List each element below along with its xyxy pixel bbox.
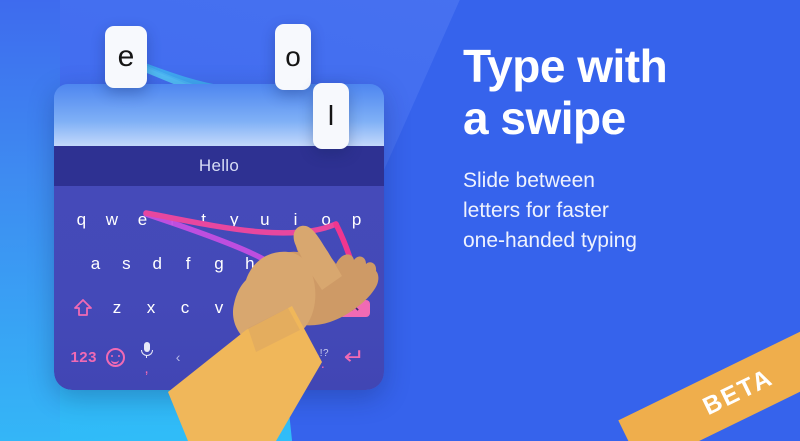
comma-label[interactable]: , xyxy=(145,365,149,373)
backspace-icon[interactable] xyxy=(338,300,372,317)
background-left-edge-gradient xyxy=(0,0,60,441)
shift-arrow-icon[interactable] xyxy=(66,298,100,318)
key-v[interactable]: v xyxy=(202,298,236,318)
suggestion-word[interactable]: Hello xyxy=(199,156,239,176)
floating-key-e-label: e xyxy=(118,40,135,74)
key-n[interactable]: n xyxy=(270,298,304,318)
key-x[interactable]: x xyxy=(134,298,168,318)
floating-key-o: o xyxy=(275,24,311,90)
numbers-key-label[interactable]: 123 xyxy=(70,349,97,366)
key-o[interactable]: o xyxy=(311,210,342,230)
suggestion-bar[interactable]: Hello xyxy=(54,146,384,186)
microphone-key[interactable]: , xyxy=(131,342,162,373)
keyboard-row-2: a s d f g h j k l xyxy=(54,254,384,274)
key-g[interactable]: g xyxy=(204,254,235,274)
key-b[interactable]: b xyxy=(236,298,270,318)
key-j[interactable]: j xyxy=(265,254,296,274)
key-q[interactable]: q xyxy=(66,210,97,230)
headline-line-2: a swipe xyxy=(463,92,783,144)
promo-copy: Type with a swipe Slide between letters … xyxy=(463,40,783,256)
keyboard-row-1: q w e r t y u i o p xyxy=(54,210,384,230)
key-u[interactable]: u xyxy=(250,210,281,230)
floating-key-l: l xyxy=(313,83,349,149)
key-h[interactable]: h xyxy=(234,254,265,274)
emoji-smiley-icon[interactable] xyxy=(99,348,130,367)
key-w[interactable]: w xyxy=(97,210,128,230)
subcopy-line-3: one-handed typing xyxy=(463,226,783,256)
subcopy-line-1: Slide between xyxy=(463,166,783,196)
key-l[interactable]: l xyxy=(327,254,358,274)
key-f[interactable]: f xyxy=(173,254,204,274)
key-y[interactable]: y xyxy=(219,210,250,230)
period-label[interactable]: . xyxy=(321,360,325,366)
key-d[interactable]: d xyxy=(142,254,173,274)
key-k[interactable]: k xyxy=(296,254,327,274)
microphone-icon[interactable] xyxy=(139,342,155,364)
key-s[interactable]: s xyxy=(111,254,142,274)
floating-key-e: e xyxy=(105,26,147,88)
keyboard[interactable]: q w e r t y u i o p a s d f g h j k l xyxy=(54,186,384,390)
page-title: Type with a swipe xyxy=(463,40,783,144)
keyboard-row-bottom: 123 , ‹ › .!? xyxy=(54,340,384,374)
promo-subtitle: Slide between letters for faster one-han… xyxy=(463,166,783,256)
cursor-left-icon[interactable]: ‹ xyxy=(162,349,193,365)
key-i[interactable]: i xyxy=(280,210,311,230)
key-r[interactable]: r xyxy=(158,210,189,230)
key-e[interactable]: e xyxy=(127,210,158,230)
headline-line-1: Type with xyxy=(463,40,783,92)
floating-key-o-label: o xyxy=(285,41,301,73)
subcopy-line-2: letters for faster xyxy=(463,196,783,226)
enter-return-icon[interactable]: ↵ xyxy=(339,346,370,368)
keyboard-row-3: z x c v b n m xyxy=(54,298,384,318)
promo-banner: Hello q w e r t y u i o p a s d f g h xyxy=(0,0,800,441)
key-z[interactable]: z xyxy=(100,298,134,318)
key-c[interactable]: c xyxy=(168,298,202,318)
key-p[interactable]: p xyxy=(341,210,372,230)
numbers-key[interactable]: 123 xyxy=(68,349,99,366)
key-a[interactable]: a xyxy=(80,254,111,274)
floating-key-l-label: l xyxy=(328,100,334,132)
punctuation-key[interactable]: .!? . xyxy=(307,348,338,366)
cursor-right-icon[interactable]: › xyxy=(276,349,307,365)
key-t[interactable]: t xyxy=(188,210,219,230)
